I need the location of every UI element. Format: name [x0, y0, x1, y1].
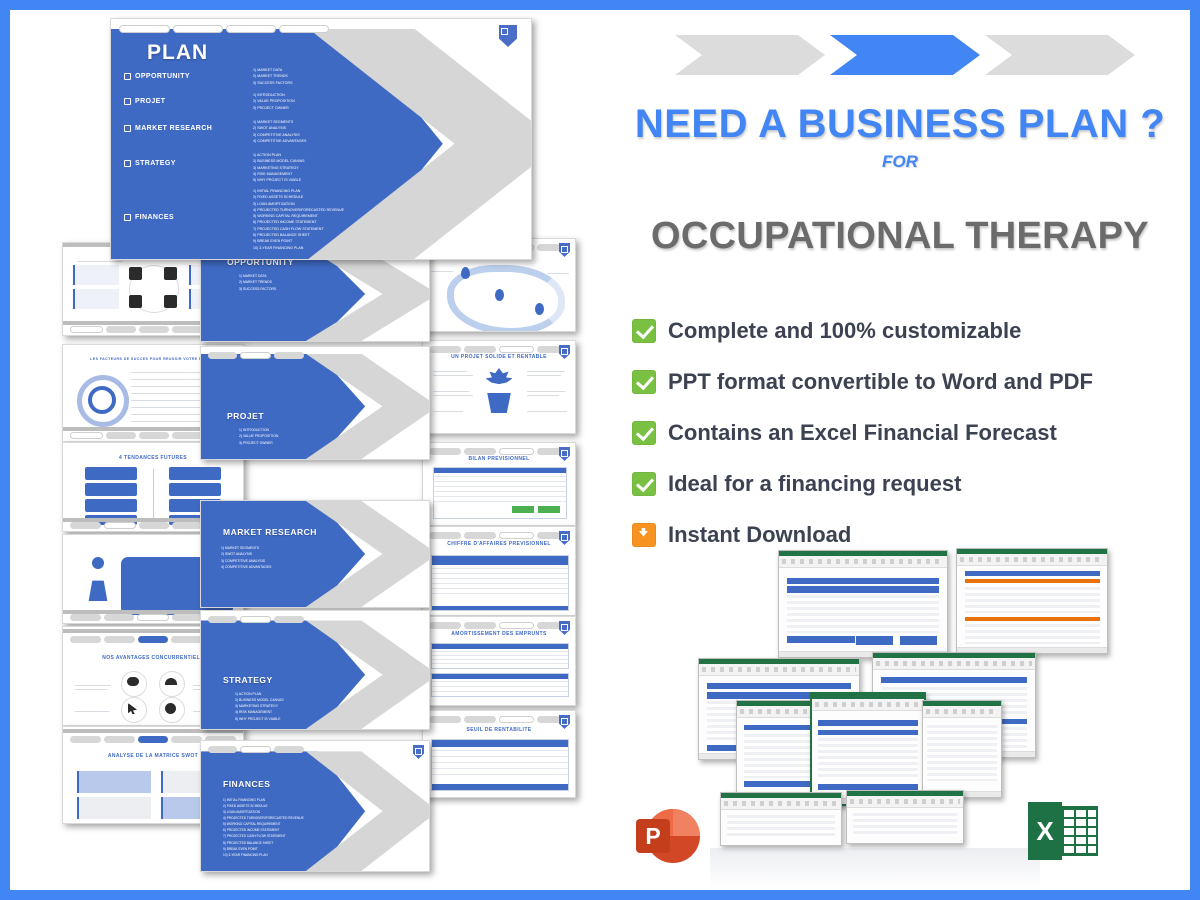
nav-dot[interactable]	[240, 746, 271, 753]
section-items: 1) INITIAL FINANCING PLAN 2) FIXED ASSET…	[223, 797, 304, 858]
plan-item: 4) COMPETITIVE ADVANTAGES	[253, 138, 306, 144]
table-header	[432, 740, 568, 747]
plan-item: 3) COMPETITIVE ANALYSIS	[253, 132, 306, 138]
excel-window[interactable]	[956, 548, 1108, 654]
speaker-head-icon	[92, 557, 104, 569]
sheet-grid	[727, 815, 835, 839]
nav-dot[interactable]	[139, 522, 169, 529]
people-icon	[164, 295, 177, 308]
text-box	[73, 265, 119, 285]
content-slide-right-4[interactable]: CHIFFRE D'AFFAIRES PRÉVISIONNEL	[422, 526, 576, 616]
target-inner	[88, 386, 116, 414]
text-box	[73, 289, 119, 309]
plan-title: PLAN	[147, 41, 208, 65]
nav-dot[interactable]	[499, 532, 533, 539]
plan-section-name: FINANCES	[135, 214, 174, 221]
nav-dot[interactable]	[173, 25, 223, 33]
plan-section-name: MARKET RESEARCH	[135, 125, 212, 132]
nav-dot[interactable]	[106, 326, 136, 333]
nav-dot[interactable]	[499, 448, 533, 455]
table-row	[432, 756, 568, 760]
sheet-banner	[707, 683, 851, 689]
section-title: STRATEGY	[223, 675, 273, 685]
section-title: MARKET RESEARCH	[223, 527, 317, 537]
table-row	[434, 501, 566, 505]
feature-list: Complete and 100% customizable PPT forma…	[632, 305, 1190, 560]
nav-dot[interactable]	[429, 448, 461, 455]
divider	[153, 469, 154, 525]
plan-section-items: 1) MARKET DATA 2) MARKET TRENDS 3) SUCCE…	[253, 67, 292, 86]
table-row	[432, 686, 568, 690]
ribbon	[699, 664, 859, 676]
chart-icon	[129, 267, 142, 280]
section-slide-market-research[interactable]: MARKET RESEARCH 1) MARKET SEGMENTS 2) SW…	[200, 500, 430, 608]
powerpoint-letter: P	[636, 819, 670, 853]
nav-dot[interactable]	[208, 746, 237, 753]
nav-dot[interactable]	[139, 326, 169, 333]
nav-dot[interactable]	[104, 522, 136, 529]
nav-dot[interactable]	[464, 448, 496, 455]
sheet-button[interactable]	[856, 636, 893, 645]
ribbon	[873, 658, 1035, 670]
nav-dot[interactable]	[499, 622, 533, 629]
table-footer	[432, 606, 568, 610]
slide-navbar[interactable]	[119, 25, 329, 33]
plan-section-items: 1) INITIAL FINANCING PLAN 2) FIXED ASSET…	[253, 188, 344, 251]
table-row	[432, 663, 568, 667]
feature-item: PPT format convertible to Word and PDF	[632, 356, 1190, 407]
subject-title: OCCUPATIONAL THERAPY	[610, 215, 1190, 258]
banner-chevron-grey-left	[675, 35, 825, 75]
nav-dot[interactable]	[429, 716, 461, 723]
trend-box	[85, 483, 137, 496]
table-highlight	[512, 506, 534, 513]
excel-window[interactable]	[720, 792, 842, 846]
nav-dot[interactable]	[499, 716, 533, 723]
binoculars-icon	[127, 677, 139, 686]
slide-collage: LES FACTEURS DE SUCCES POUR RÉUSSIR VOTR…	[10, 10, 610, 890]
nav-dot[interactable]	[104, 614, 134, 621]
table-row	[434, 496, 566, 500]
poster-frame: LES FACTEURS DE SUCCES POUR RÉUSSIR VOTR…	[10, 10, 1190, 890]
text-line	[527, 371, 565, 372]
sheet-grid	[853, 813, 957, 837]
plan-item: 3) MARKETING STRATEGY	[253, 165, 305, 171]
slide-title: AMORTISSEMENT DES EMPRUNTS	[423, 631, 575, 637]
loan-table-2	[431, 673, 569, 697]
section-slide-opportunity[interactable]: OPPORTUNITY 1) MARKET DATA 2) MARKET TRE…	[200, 246, 430, 342]
excel-grid	[1060, 806, 1098, 856]
nav-dot[interactable]	[208, 352, 237, 359]
nav-dot[interactable]	[171, 736, 202, 743]
shield-icon	[559, 243, 570, 257]
speaker-podium-icon	[85, 567, 111, 601]
feature-item: Contains an Excel Financial Forecast	[632, 407, 1190, 458]
nav-dot[interactable]	[279, 25, 329, 33]
nav-dot[interactable]	[70, 522, 100, 529]
sheet-accent	[965, 617, 1100, 621]
plan-section: PROJET 1) INTRODUCTION 2) VALUE PROPOSIT…	[135, 96, 395, 121]
excel-letter: X	[1028, 802, 1062, 860]
nav-dot[interactable]	[139, 432, 169, 439]
text-line	[75, 685, 111, 686]
text-line	[77, 261, 123, 262]
excel-window[interactable]	[810, 692, 926, 806]
nav-dot[interactable]	[274, 746, 303, 753]
sheet-grid	[787, 595, 938, 633]
ribbon	[847, 796, 963, 808]
nav-dot[interactable]	[172, 522, 202, 529]
building-icon	[164, 267, 177, 280]
slide-navbar[interactable]	[208, 746, 304, 753]
table-row	[432, 583, 568, 587]
content-slide-right-3[interactable]: BILAN PRÉVISIONNEL	[422, 442, 576, 526]
trend-box	[85, 499, 137, 512]
plan-item: 2) VALUE PROPOSITION	[253, 98, 295, 104]
table-footer	[432, 784, 568, 790]
slide-navbar[interactable]	[429, 716, 569, 723]
section-title: PROJET	[227, 411, 264, 421]
nav-dot[interactable]	[464, 532, 496, 539]
excel-window[interactable]	[922, 700, 1002, 798]
excel-window[interactable]	[778, 550, 948, 658]
text-line	[527, 395, 559, 396]
reflection-glow	[710, 848, 1040, 888]
nav-dot[interactable]	[464, 622, 496, 629]
nav-dot[interactable]	[70, 614, 100, 621]
revenue-table	[431, 555, 569, 611]
chevron-banner	[675, 35, 1110, 75]
sheet-grid	[927, 725, 997, 781]
nav-dot[interactable]	[208, 616, 237, 623]
map-pin-icon	[535, 303, 544, 315]
table-header	[432, 556, 568, 565]
slide-title: BILAN PRÉVISIONNEL	[423, 456, 575, 462]
slide-title: SEUIL DE RENTABILITÉ	[423, 727, 575, 733]
plan-item: 2) BUSINESS MODEL CANVAS	[253, 158, 305, 164]
section-slide-finances[interactable]: FINANCES 1) INITIAL FINANCING PLAN 2) FI…	[200, 740, 430, 872]
sheet-accent	[965, 579, 1100, 583]
nav-dot[interactable]	[138, 636, 169, 643]
section-item: 2) MARKET TRENDS	[239, 279, 276, 285]
plant-leaves-icon	[483, 368, 515, 394]
nav-dot[interactable]	[70, 636, 101, 643]
plan-section: FINANCES 1) INITIAL FINANCING PLAN 2) FI…	[135, 188, 395, 250]
plan-item: 2) MARKET TRENDS	[253, 73, 292, 79]
table-row	[432, 593, 568, 597]
excel-window[interactable]	[846, 790, 964, 844]
section-slide-projet[interactable]: PROJET 1) INTRODUCTION 2) VALUE PROPOSIT…	[200, 346, 430, 460]
nav-dot[interactable]	[274, 352, 303, 359]
feature-label: Contains an Excel Financial Forecast	[668, 420, 1057, 446]
nav-dot[interactable]	[104, 636, 135, 643]
table-row	[432, 691, 568, 695]
nav-dot[interactable]	[240, 616, 271, 623]
slide-navbar[interactable]	[208, 352, 304, 359]
table-row	[432, 578, 568, 582]
nav-dot[interactable]	[464, 346, 496, 353]
nav-dot[interactable]	[119, 25, 169, 33]
section-items: 1) ACTION PLAN 2) BUSINESS MODEL CANVAS …	[235, 691, 284, 722]
plan-section-items: 1) INTRODUCTION 2) VALUE PROPOSITION 3) …	[253, 92, 295, 111]
section-item: 3) SUCCESS FACTORS	[239, 286, 276, 292]
content-slide-right-6[interactable]: SEUIL DE RENTABILITÉ	[422, 710, 576, 798]
plan-section-name: STRATEGY	[135, 160, 176, 167]
nav-dot[interactable]	[464, 716, 496, 723]
section-item: 5) WHY PROJECT IS VIABLE	[235, 716, 284, 722]
nav-dot[interactable]	[429, 346, 461, 353]
check-icon	[632, 472, 656, 496]
for-label: FOR	[610, 152, 1190, 172]
text-line	[433, 411, 463, 412]
feature-label: PPT format convertible to Word and PDF	[668, 369, 1093, 395]
shield-icon	[499, 25, 517, 47]
sheet-banner	[787, 578, 938, 584]
nav-dot[interactable]	[274, 616, 303, 623]
plan-sections: OPPORTUNITY 1) MARKET DATA 2) MARKET TRE…	[135, 71, 395, 250]
table-row	[432, 750, 568, 754]
section-item: 3) COMPETITIVE ANALYSIS	[221, 558, 271, 564]
swot-quadrant-opportunities	[77, 797, 151, 819]
table-row	[432, 774, 568, 778]
slide-title: UN PROJET SOLIDE ET RENTABLE	[423, 354, 575, 360]
text-line	[433, 391, 469, 392]
trend-box	[85, 467, 137, 480]
banner-chevron-blue	[830, 35, 980, 75]
table-row	[434, 481, 566, 485]
slide-subtitle	[435, 362, 563, 365]
nav-dot[interactable]	[104, 736, 135, 743]
section-item: 4) COMPETITIVE ADVANTAGES	[221, 564, 271, 570]
nav-dot[interactable]	[172, 614, 202, 621]
ribbon	[779, 556, 947, 568]
nav-dot[interactable]	[70, 736, 101, 743]
breakeven-table	[431, 739, 569, 791]
banner-chevron-grey-right	[985, 35, 1135, 75]
sheet-total	[744, 781, 817, 787]
plan-section-name: OPPORTUNITY	[135, 73, 190, 80]
table-row	[432, 762, 568, 766]
ribbon	[923, 706, 1001, 718]
check-icon	[632, 319, 656, 343]
nav-dot[interactable]	[137, 614, 169, 621]
powerpoint-logo: P	[636, 805, 698, 867]
nav-dot[interactable]	[240, 352, 271, 359]
trend-box	[169, 467, 221, 480]
text-line	[433, 375, 473, 376]
table-header	[434, 468, 566, 473]
sheet-grid	[965, 624, 1100, 644]
financial-table	[433, 467, 567, 519]
nav-dot[interactable]	[171, 636, 202, 643]
plan-slide[interactable]: PLAN OPPORTUNITY 1) MARKET DATA 2) MARKE…	[110, 18, 532, 260]
text-line	[433, 395, 473, 396]
slide-navbar[interactable]	[429, 346, 569, 353]
section-title: FINANCES	[223, 779, 270, 789]
table-highlight	[538, 506, 560, 513]
text-line	[431, 271, 453, 272]
slide-navbar[interactable]	[429, 622, 569, 629]
content-slide-right-2[interactable]: UN PROJET SOLIDE ET RENTABLE	[422, 340, 576, 434]
table-row	[432, 573, 568, 577]
nav-dot[interactable]	[226, 25, 276, 33]
table-header	[432, 644, 568, 649]
trend-box	[169, 483, 221, 496]
slide-title: CHIFFRE D'AFFAIRES PRÉVISIONNEL	[423, 541, 575, 547]
nav-dot[interactable]	[172, 432, 202, 439]
text-line	[75, 689, 107, 690]
plan-item: 3) SUCCESS FACTORS	[253, 80, 292, 86]
table-row	[434, 476, 566, 480]
sheet-header	[787, 586, 938, 593]
nav-dot[interactable]	[138, 736, 169, 743]
plan-item: 10) 3-YEAR FINANCING PLAN	[253, 245, 344, 251]
plan-section-items: 1) ACTION PLAN 2) BUSINESS MODEL CANVAS …	[253, 152, 305, 183]
map-pin-icon	[495, 289, 504, 301]
nav-dot[interactable]	[429, 622, 461, 629]
content-slide-right-5[interactable]: AMORTISSEMENT DES EMPRUNTS	[422, 616, 576, 706]
map-pin-icon	[461, 267, 470, 279]
download-icon	[632, 523, 656, 547]
check-icon	[632, 370, 656, 394]
sheet-banner	[881, 677, 1027, 683]
slide-subtitle	[435, 549, 563, 552]
text-line	[527, 411, 567, 412]
sheet-banner	[965, 571, 1100, 576]
sheet-total	[787, 636, 854, 643]
nav-dot[interactable]	[429, 532, 461, 539]
text-line	[433, 371, 467, 372]
section-items: 1) INTRODUCTION 2) VALUE PROPOSITION 3) …	[239, 427, 278, 446]
feature-label: Complete and 100% customizable	[668, 318, 1021, 344]
feature-item: Ideal for a financing request	[632, 458, 1190, 509]
plan-section: STRATEGY 1) ACTION PLAN 2) BUSINESS MODE…	[135, 152, 395, 188]
feature-item: Complete and 100% customizable	[632, 305, 1190, 356]
excel-screenshot-cluster	[690, 540, 1110, 840]
sheet-button[interactable]	[900, 636, 937, 645]
plan-item: 5) WHY PROJECT IS VIABLE	[253, 177, 305, 183]
nav-dot[interactable]	[70, 432, 102, 439]
text-line	[75, 711, 109, 712]
section-slide-strategy[interactable]: STRATEGY 1) ACTION PLAN 2) BUSINESS MODE…	[200, 610, 430, 730]
nav-dot[interactable]	[499, 346, 533, 353]
ribbon	[812, 699, 924, 711]
check-icon	[632, 421, 656, 445]
table-row	[434, 486, 566, 490]
sheet-grid	[965, 587, 1100, 613]
plan-section-items: 1) MARKET SEGMENTS 2) SWOT ANALYSIS 3) C…	[253, 119, 306, 144]
feature-label: Ideal for a financing request	[668, 471, 961, 497]
nav-dot[interactable]	[172, 326, 202, 333]
sheet-header	[818, 730, 919, 735]
text-line	[527, 391, 565, 392]
plant-pot-icon	[485, 393, 513, 413]
page-title: NEED A BUSINESS PLAN ?	[610, 102, 1190, 147]
sheet-grid	[818, 738, 919, 780]
text-line	[527, 375, 561, 376]
table-row	[432, 768, 568, 772]
section-items: 1) MARKET SEGMENTS 2) SWOT ANALYSIS 3) C…	[221, 545, 271, 570]
plan-item: 3) PROJECT OWNER	[253, 105, 295, 111]
plan-section-name: PROJET	[135, 98, 165, 105]
section-items: 1) MARKET DATA 2) MARKET TRENDS 3) SUCCE…	[239, 273, 276, 292]
table-header	[432, 674, 568, 679]
flow-icon	[129, 295, 142, 308]
section-item: 10) 3-YEAR FINANCING PLAN	[223, 852, 304, 858]
swot-quadrant-strengths	[77, 771, 151, 793]
slide-navbar[interactable]	[429, 448, 569, 455]
sheet-banner	[818, 720, 919, 726]
section-item: 3) PROJECT OWNER	[239, 440, 278, 446]
ribbon	[721, 798, 841, 810]
table-row	[432, 681, 568, 685]
shield-icon	[413, 745, 424, 759]
table-row	[432, 588, 568, 592]
section-item: 2) VALUE PROPOSITION	[239, 433, 278, 439]
ribbon	[957, 554, 1107, 566]
nav-dot[interactable]	[106, 432, 136, 439]
umbrella-icon	[165, 678, 177, 685]
loan-table-1	[431, 643, 569, 669]
text-line	[547, 273, 569, 274]
plan-section: MARKET RESEARCH 1) MARKET SEGMENTS 2) SW…	[135, 121, 395, 152]
table-row	[434, 491, 566, 495]
slide-navbar[interactable]	[429, 532, 569, 539]
table-row	[432, 568, 568, 572]
excel-logo: X	[1028, 798, 1100, 864]
gear-icon	[165, 703, 176, 714]
promo-panel: NEED A BUSINESS PLAN ? FOR OCCUPATIONAL …	[610, 10, 1190, 890]
slide-navbar[interactable]	[208, 616, 304, 623]
nav-dot[interactable]	[70, 326, 102, 333]
